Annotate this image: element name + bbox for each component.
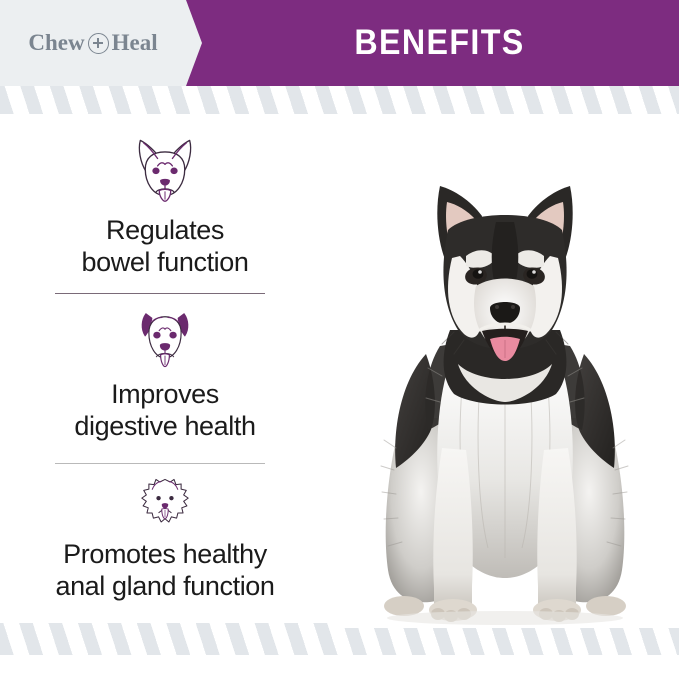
- top-stripe-band: [0, 86, 679, 114]
- corgi-dog-face-icon: [123, 133, 207, 207]
- dog-illustration: [330, 118, 679, 628]
- circled-plus-icon: [88, 33, 109, 54]
- benefit-label-2: Improves digestive health: [74, 379, 255, 443]
- benefit-item-1: Regulates bowel function: [0, 133, 330, 279]
- benefits-poster: BENEFITS Chew Heal: [0, 0, 679, 679]
- logo-chevron-icon: [186, 0, 202, 86]
- benefits-list: Regulates bowel function: [0, 125, 330, 625]
- brand-logo: Chew Heal: [28, 30, 157, 56]
- benefit-divider-1: [55, 293, 265, 294]
- benefit-label-1: Regulates bowel function: [81, 215, 248, 279]
- benefit-divider-2: [55, 463, 265, 464]
- terrier-dog-face-icon: [128, 305, 202, 371]
- brand-logo-panel: Chew Heal: [0, 0, 186, 86]
- benefit-item-2: Improves digestive health: [0, 305, 330, 443]
- benefit-item-3: Promotes healthy anal gland function: [0, 473, 330, 603]
- benefit-label-3: Promotes healthy anal gland function: [55, 539, 274, 603]
- page-title: BENEFITS: [219, 0, 660, 86]
- fluffy-dog-face-icon: [132, 473, 198, 531]
- logo-word-heal: Heal: [112, 30, 158, 56]
- dog-photo: [330, 118, 679, 628]
- logo-word-chew: Chew: [28, 30, 84, 56]
